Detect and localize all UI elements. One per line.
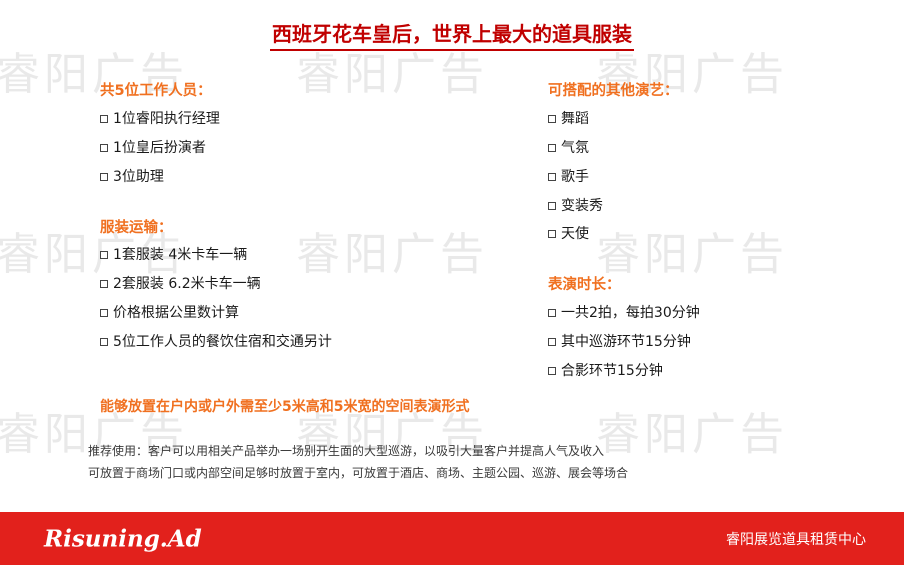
square-bullet-icon bbox=[100, 280, 108, 288]
section-heading: 服装运输： bbox=[100, 219, 480, 238]
list-item: 3位助理 bbox=[100, 168, 480, 187]
list-item: 气氛 bbox=[548, 139, 888, 158]
list-item: 歌手 bbox=[548, 168, 888, 187]
recommendation-line: 推荐使用：客户可以用相关产品举办一场别开生面的大型巡游，以吸引大量客户并提高人气… bbox=[88, 440, 878, 462]
list-item: 其中巡游环节15分钟 bbox=[548, 333, 888, 352]
square-bullet-icon bbox=[548, 367, 556, 375]
square-bullet-icon bbox=[548, 173, 556, 181]
list-item: 2套服装 6.2米卡车一辆 bbox=[100, 275, 480, 294]
recommendation-line: 可放置于商场门口或内部空间足够时放置于室内，可放置于酒店、商场、主题公园、巡游、… bbox=[88, 462, 878, 484]
list-item: 天使 bbox=[548, 225, 888, 244]
spacer bbox=[548, 254, 888, 276]
brand-logo: Risuning.Ad bbox=[44, 525, 202, 552]
square-bullet-icon bbox=[548, 202, 556, 210]
list-item-label: 一共2拍，每拍30分钟 bbox=[561, 304, 700, 323]
list-item: 1位皇后扮演者 bbox=[100, 139, 480, 158]
list-item-label: 1位皇后扮演者 bbox=[113, 139, 206, 158]
list-item: 价格根据公里数计算 bbox=[100, 304, 480, 323]
footer-company-name: 睿阳展览道具租赁中心 bbox=[726, 529, 866, 549]
left-column: 共5位工作人员： 1位睿阳执行经理 1位皇后扮演者 3位助理 服装运输： 1套服… bbox=[100, 82, 480, 362]
list-item-label: 气氛 bbox=[561, 139, 589, 158]
square-bullet-icon bbox=[100, 251, 108, 259]
list-item-label: 合影环节15分钟 bbox=[561, 362, 663, 381]
list-item: 合影环节15分钟 bbox=[548, 362, 888, 381]
section-duration: 表演时长： 一共2拍，每拍30分钟 其中巡游环节15分钟 合影环节15分钟 bbox=[548, 276, 888, 381]
square-bullet-icon bbox=[100, 144, 108, 152]
list-item-label: 1位睿阳执行经理 bbox=[113, 110, 220, 129]
section-heading: 共5位工作人员： bbox=[100, 82, 480, 101]
square-bullet-icon bbox=[548, 115, 556, 123]
section-addons: 可搭配的其他演艺： 舞蹈 气氛 歌手 变装秀 天使 bbox=[548, 82, 888, 244]
list-item-label: 天使 bbox=[561, 225, 589, 244]
square-bullet-icon bbox=[548, 309, 556, 317]
square-bullet-icon bbox=[100, 115, 108, 123]
list-item: 舞蹈 bbox=[548, 110, 888, 129]
section-transport: 服装运输： 1套服装 4米卡车一辆 2套服装 6.2米卡车一辆 价格根据公里数计… bbox=[100, 219, 480, 352]
section-heading: 可搭配的其他演艺： bbox=[548, 82, 888, 101]
list-item: 一共2拍，每拍30分钟 bbox=[548, 304, 888, 323]
square-bullet-icon bbox=[100, 338, 108, 346]
list-item-label: 其中巡游环节15分钟 bbox=[561, 333, 691, 352]
list-item-label: 价格根据公里数计算 bbox=[113, 304, 239, 323]
page-title: 西班牙花车皇后，世界上最大的道具服装 bbox=[270, 22, 634, 51]
space-requirement-note: 能够放置在户内或户外需至少5米高和5米宽的空间表演形式 bbox=[100, 398, 860, 418]
list-item-label: 3位助理 bbox=[113, 168, 164, 187]
list-item-label: 5位工作人员的餐饮住宿和交通另计 bbox=[113, 333, 332, 352]
list-item: 变装秀 bbox=[548, 197, 888, 216]
square-bullet-icon bbox=[100, 309, 108, 317]
square-bullet-icon bbox=[100, 173, 108, 181]
list-item-label: 1套服装 4米卡车一辆 bbox=[113, 246, 247, 265]
right-column: 可搭配的其他演艺： 舞蹈 气氛 歌手 变装秀 天使 bbox=[548, 82, 888, 391]
footer-bar: Risuning.Ad 睿阳展览道具租赁中心 bbox=[0, 512, 904, 565]
list-item-label: 变装秀 bbox=[561, 197, 603, 216]
list-item: 1位睿阳执行经理 bbox=[100, 110, 480, 129]
square-bullet-icon bbox=[548, 144, 556, 152]
list-item-label: 歌手 bbox=[561, 168, 589, 187]
page-title-wrap: 西班牙花车皇后，世界上最大的道具服装 bbox=[0, 22, 904, 51]
list-item: 1套服装 4米卡车一辆 bbox=[100, 246, 480, 265]
list-item-label: 2套服装 6.2米卡车一辆 bbox=[113, 275, 261, 294]
spacer bbox=[100, 197, 480, 219]
section-heading: 表演时长： bbox=[548, 276, 888, 295]
list-item-label: 舞蹈 bbox=[561, 110, 589, 129]
section-staff: 共5位工作人员： 1位睿阳执行经理 1位皇后扮演者 3位助理 bbox=[100, 82, 480, 187]
square-bullet-icon bbox=[548, 338, 556, 346]
square-bullet-icon bbox=[548, 230, 556, 238]
recommendation-note: 推荐使用：客户可以用相关产品举办一场别开生面的大型巡游，以吸引大量客户并提高人气… bbox=[88, 440, 878, 484]
list-item: 5位工作人员的餐饮住宿和交通另计 bbox=[100, 333, 480, 352]
